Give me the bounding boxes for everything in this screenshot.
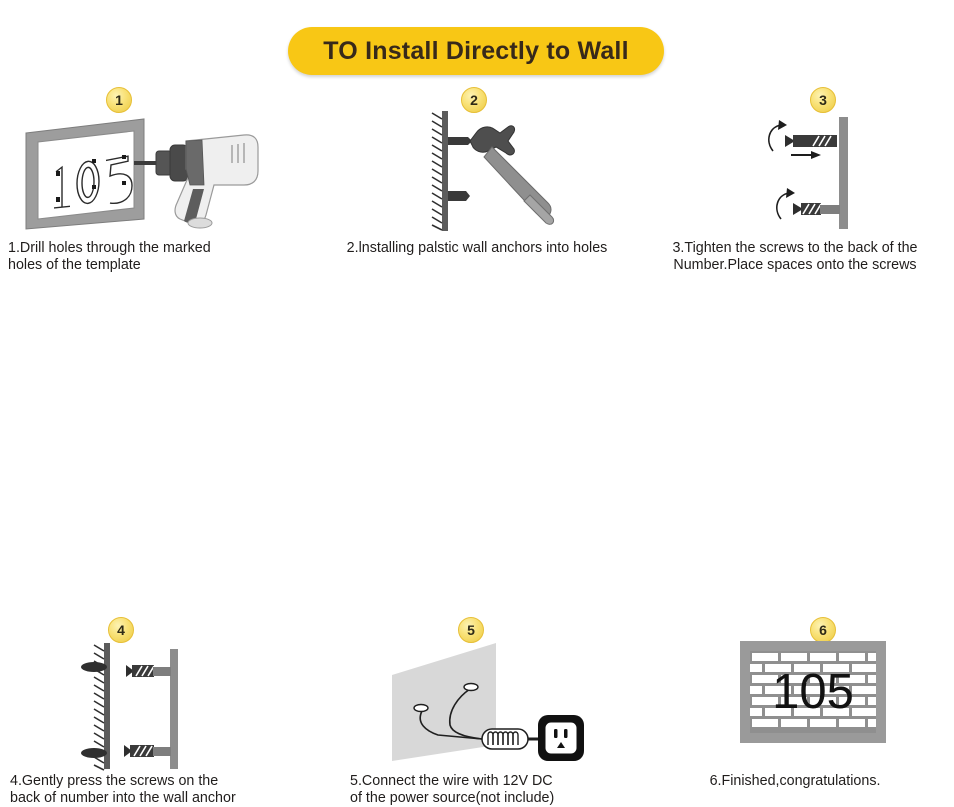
step-4-caption: 4.Gently press the screws on the back of… xyxy=(10,773,310,807)
step-6-illustration: 105 xyxy=(740,641,886,743)
finished-house-number-plaque: 105 xyxy=(740,641,886,743)
brick-panel: 105 xyxy=(750,651,876,733)
step-badge-6: 6 xyxy=(810,617,836,643)
step-2-caption: 2.lnstalling palstic wall anchors into h… xyxy=(318,240,636,257)
step-3-caption: 3.Tighten the screws to the back of the … xyxy=(636,240,954,274)
page-title-banner: TO Install Directly to Wall xyxy=(288,27,664,75)
step-1-illustration xyxy=(18,111,278,236)
step-1-caption: 1.Drill holes through the marked holes o… xyxy=(8,240,308,274)
drill-template-icon xyxy=(18,111,278,231)
page-title: TO Install Directly to Wall xyxy=(323,37,628,66)
step-badge-2: 2 xyxy=(461,87,487,113)
step-5-illustration xyxy=(386,639,586,774)
step-badge-1: 1 xyxy=(106,87,132,113)
step-6-caption: 6.Finished,congratulations. xyxy=(636,773,954,790)
steps-row-top: 1 xyxy=(0,85,954,347)
press-number-onto-anchors-icon xyxy=(72,641,212,771)
step-badge-4: 4 xyxy=(108,617,134,643)
step-2-illustration xyxy=(396,111,576,236)
wire-to-power-outlet-icon xyxy=(386,639,586,769)
step-5-caption: 5.Connect the wire with 12V DC of the po… xyxy=(350,773,630,807)
steps-row-bottom: 4 xyxy=(0,347,954,609)
steps-grid: 1 xyxy=(0,85,954,609)
screws-into-wall-icon xyxy=(751,111,911,231)
step-badge-3: 3 xyxy=(810,87,836,113)
hammer-wall-anchors-icon xyxy=(396,111,576,231)
step-4-illustration xyxy=(72,641,212,776)
house-number-text: 105 xyxy=(750,651,876,733)
step-3-illustration xyxy=(751,111,911,236)
